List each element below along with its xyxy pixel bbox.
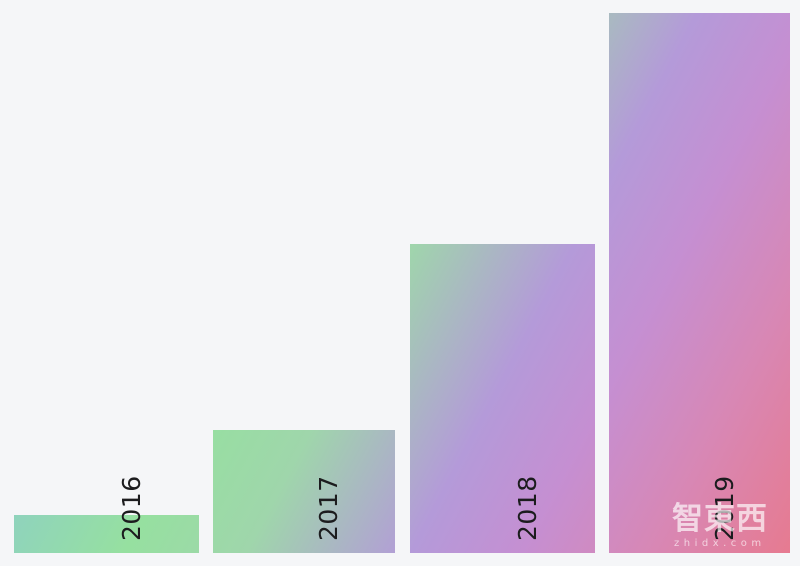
plot-area: 2016 2017 2018 2019 [0, 0, 800, 566]
bar-fill [410, 244, 595, 553]
bar-fill [609, 13, 790, 553]
bar-2016[interactable] [14, 515, 199, 553]
bar-fill [14, 515, 199, 553]
bar-2017[interactable] [213, 430, 395, 553]
bar-label-2017: 2017 [316, 475, 341, 541]
bar-label-2019: 2019 [712, 475, 737, 541]
bar-chart: 2016 2017 2018 2019 智東西 zhidx.com [0, 0, 800, 566]
bar-label-2018: 2018 [515, 475, 540, 541]
bar-2018[interactable] [410, 244, 595, 553]
bar-2019[interactable] [609, 13, 790, 553]
bar-label-2016: 2016 [119, 475, 144, 541]
bar-fill [213, 430, 395, 553]
